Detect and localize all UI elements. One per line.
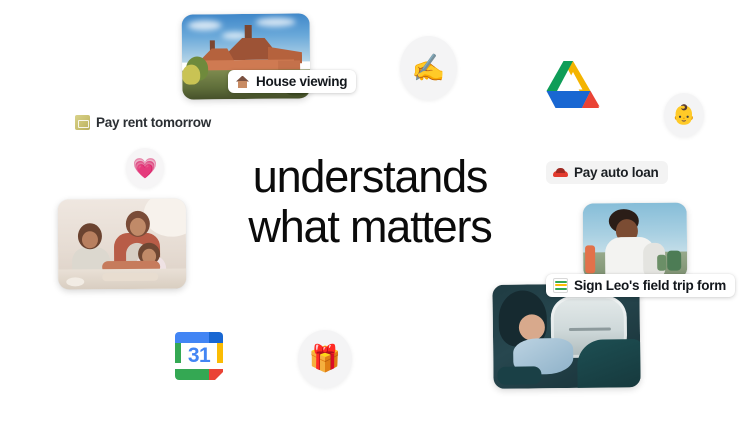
task-pill-label: Pay auto loan [574, 165, 659, 180]
child-outdoors-photo-image [583, 203, 688, 280]
house-icon [235, 74, 250, 89]
calendar-day-number: 31 [172, 329, 226, 383]
task-pill-label: House viewing [256, 74, 347, 89]
google-calendar-icon[interactable]: 31 [172, 329, 226, 383]
car-icon [553, 165, 568, 180]
train-window-photo[interactable] [492, 283, 640, 389]
emoji-badge-gift[interactable]: 🎁 [298, 330, 352, 388]
task-pill-pay-rent[interactable]: Pay rent tomorrow [68, 111, 220, 134]
emoji-badge-baby-face[interactable]: 👶 [664, 93, 704, 137]
train-window-photo-image [492, 283, 640, 389]
emoji-badge-writing-hand[interactable]: ✍️ [400, 36, 457, 100]
task-pill-pay-auto-loan[interactable]: Pay auto loan [546, 161, 668, 184]
emoji-badge-pink-heart[interactable]: 💗 [126, 148, 164, 188]
baby-face-icon: 👶 [672, 106, 696, 125]
child-outdoors-photo[interactable] [583, 203, 688, 280]
family-photo-image [58, 199, 187, 290]
google-drive-glyph [542, 58, 604, 114]
gift-icon: 🎁 [309, 346, 341, 372]
task-pill-label: Sign Leo's field trip form [574, 278, 726, 293]
google-drive-icon[interactable] [542, 58, 604, 114]
growing-heart-icon: 💗 [133, 158, 158, 178]
promo-canvas: House viewing Pay rent tomorrow ✍️ 👶 💗 P… [0, 0, 740, 435]
task-pill-sign-field-trip[interactable]: Sign Leo's field trip form [546, 274, 735, 297]
writing-hand-icon: ✍️ [412, 55, 446, 82]
google-calendar-glyph: 31 [172, 329, 226, 383]
task-pill-label: Pay rent tomorrow [96, 115, 211, 130]
family-photo[interactable] [58, 199, 187, 290]
money-icon [75, 115, 90, 130]
task-pill-house-viewing[interactable]: House viewing [228, 70, 356, 93]
form-icon [553, 278, 568, 293]
